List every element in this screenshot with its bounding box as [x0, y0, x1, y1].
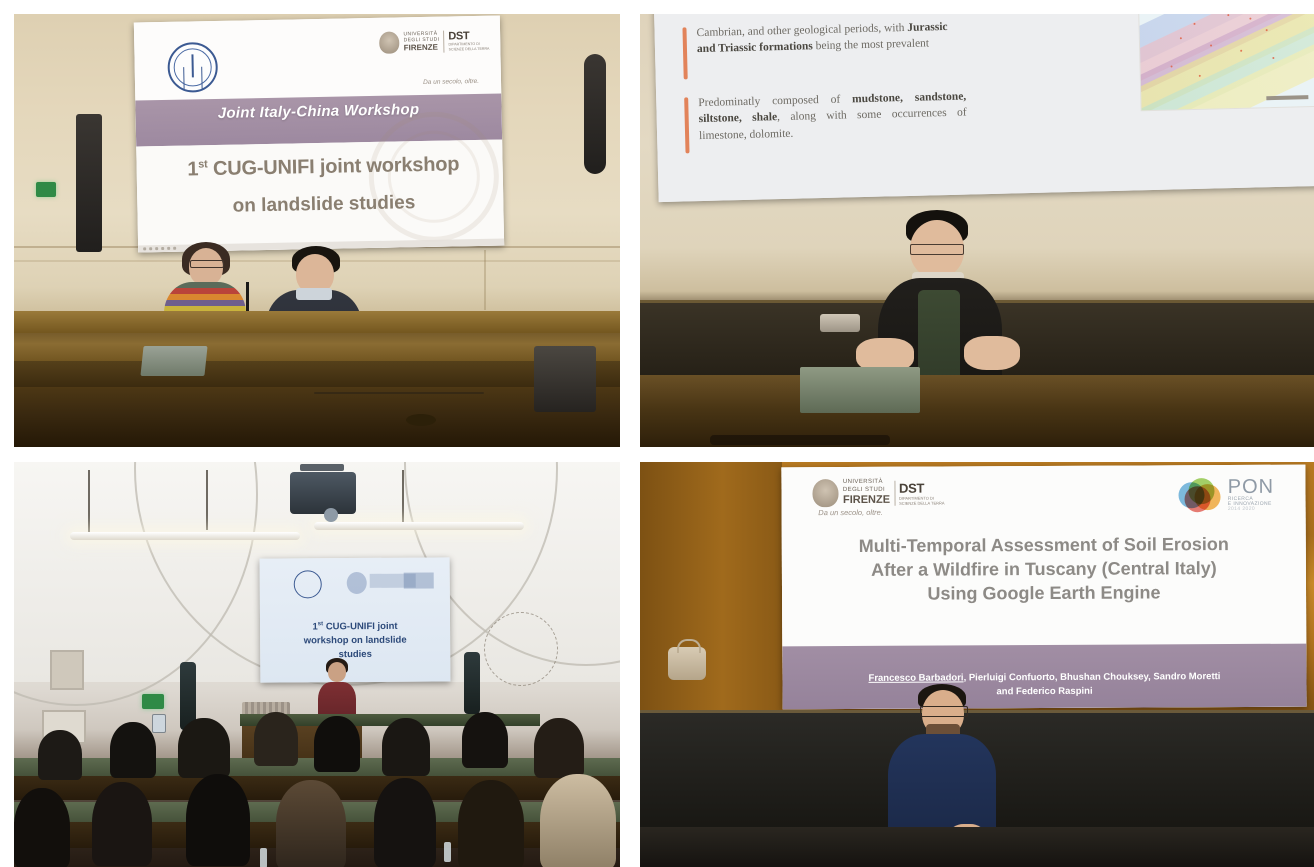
- lamp-rod: [88, 470, 90, 534]
- bullet-1-line-1: Cambrian, and other geological periods, …: [696, 22, 904, 39]
- dst-wordmark: DST: [448, 30, 489, 43]
- audience-member: [314, 716, 360, 772]
- slide-title-line-3: Using Google Earth Engine: [927, 582, 1160, 603]
- cable: [314, 392, 484, 394]
- audience-member: [254, 712, 298, 766]
- water-bottle: [260, 848, 267, 867]
- slide-title-line-2: After a Wildfire in Tuscany (Central Ita…: [871, 558, 1217, 580]
- photo-panel-top-right[interactable]: Cambrian, and other geological periods, …: [640, 14, 1314, 447]
- photo-panel-bottom-right[interactable]: UNIVERSITÀ DEGLI STUDI FIRENZE DST DIPAR…: [640, 462, 1314, 867]
- lecture-bench: [14, 327, 620, 447]
- photo-panel-top-left[interactable]: UNIVERSITÀ DEGLI STUDI FIRENZE DST DIPAR…: [14, 14, 620, 447]
- cug-seal-icon: [167, 42, 218, 93]
- pon-text: PON: [1228, 477, 1274, 497]
- unifi-line-3: FIRENZE: [404, 43, 440, 54]
- bullet-2-rest: , along with some: [777, 109, 882, 124]
- projector-lens-icon: [324, 508, 338, 522]
- bullet-2-text: Predominatly composed of mudstone, sands…: [698, 89, 967, 145]
- bullet-marker: [684, 97, 689, 153]
- speaker-column: [76, 114, 102, 252]
- cable: [710, 435, 890, 445]
- glasses-icon: [910, 244, 964, 255]
- audience-member: [178, 718, 230, 778]
- slide-title-line-1: Multi-Temporal Assessment of Soil Erosio…: [859, 534, 1229, 556]
- glasses-icon: [190, 260, 224, 268]
- hand-right: [964, 336, 1020, 370]
- bullet-2-line-1: Predominatly composed of: [698, 93, 852, 109]
- lamp-rod: [402, 470, 404, 524]
- author-lead: Francesco Barbadori: [868, 672, 963, 683]
- shirt-collar: [296, 288, 332, 300]
- photo-panel-bottom-left[interactable]: 1st CUG-UNIFI joint workshop on landslid…: [14, 462, 620, 867]
- ceiling-lamp: [314, 522, 524, 530]
- projection-screen: UNIVERSITÀ DEGLI STUDI FIRENZE DST DIPAR…: [781, 465, 1306, 710]
- bench-top: [14, 311, 620, 333]
- bullet-1-text: Cambrian, and other geological periods, …: [696, 19, 962, 58]
- laptop: [800, 367, 920, 413]
- audience-member: [382, 718, 430, 776]
- wall-plaque: [50, 650, 84, 690]
- geology-slide: Cambrian, and other geological periods, …: [653, 14, 1314, 202]
- lamp-rod: [206, 470, 208, 530]
- geological-map-image: [1137, 14, 1314, 111]
- lecture-bench: [640, 827, 1314, 867]
- dst-logo: DST DIPARTIMENTO DI SCIENZE DELLA TERRA: [894, 480, 945, 506]
- ceiling-projector: [290, 472, 356, 514]
- ceiling-lamp: [70, 532, 300, 540]
- title-slide: UNIVERSITÀ DEGLI STUDI FIRENZE DST DIPAR…: [781, 465, 1306, 710]
- bag: [668, 647, 706, 680]
- slide-title: Multi-Temporal Assessment of Soil Erosio…: [808, 533, 1280, 607]
- slide-title-main: CUG-UNIFI joint workshop: [207, 153, 459, 180]
- water-bottle: [444, 842, 451, 862]
- unifi-logo: UNIVERSITÀ DEGLI STUDI FIRENZE DST DIPAR…: [379, 30, 489, 55]
- bullet-1-line-3: most prevalent: [861, 38, 929, 52]
- audience-member: [540, 774, 616, 867]
- dst-logo: [404, 572, 434, 588]
- audience-member: [374, 778, 436, 867]
- unifi-tagline: Da un secolo, oltre.: [818, 508, 883, 517]
- unifi-crest-icon: [347, 572, 367, 594]
- pon-sub-3: 2014 2020: [1228, 507, 1274, 512]
- pon-wordmark: PON RICERCA E INNOVAZIONE 2014 2020: [1228, 477, 1275, 512]
- projector-mount: [300, 464, 344, 471]
- projection-screen: Cambrian, and other geological periods, …: [653, 14, 1314, 202]
- bench-front: [14, 361, 620, 387]
- authors-rest: , Pierluigi Confuorto, Bhushan Chouksey,…: [964, 671, 1221, 683]
- unifi-logo: UNIVERSITÀ DEGLI STUDI FIRENZE DST DIPAR…: [813, 479, 945, 508]
- dst-sub-2: SCIENZE DELLA TERRA: [449, 47, 490, 52]
- photo-collage: UNIVERSITÀ DEGLI STUDI FIRENZE DST DIPAR…: [0, 0, 1314, 865]
- audience-member: [38, 730, 82, 780]
- audience-member: [276, 780, 346, 867]
- bullet-1-rest: being the: [813, 39, 859, 52]
- dst-logo: DST DIPARTIMENTO DI SCIENZE DELLA TERRA: [443, 30, 489, 52]
- unifi-line-2: DEGLI STUDI: [843, 486, 885, 492]
- audience-member: [462, 712, 508, 768]
- pon-circles-icon: [1179, 478, 1223, 512]
- slide-title-sup: st: [198, 158, 208, 170]
- speaker-column: [584, 54, 606, 174]
- exit-sign-icon: [142, 694, 164, 709]
- unifi-wordmark: UNIVERSITÀ DEGLI STUDI FIRENZE: [843, 479, 890, 508]
- authors-line-2: and Federico Raspini: [996, 685, 1092, 697]
- wall-speaker: [464, 652, 480, 714]
- audience-member: [534, 718, 584, 778]
- smartphone: [152, 714, 166, 733]
- exit-sign-icon: [36, 182, 56, 197]
- bullet-2-bold-1: mudstone,: [852, 92, 903, 105]
- bench-knob: [406, 414, 436, 426]
- unifi-wordmark: UNIVERSITÀ DEGLI STUDI FIRENZE: [403, 30, 439, 53]
- slide-title-prefix: 1: [187, 158, 198, 180]
- projection-screen: UNIVERSITÀ DEGLI STUDI FIRENZE DST DIPAR…: [134, 16, 504, 253]
- dst-sub-2: SCIENZE DELLA TERRA: [899, 500, 945, 505]
- laptop: [140, 346, 207, 376]
- audience-member: [458, 780, 524, 867]
- audience-member: [92, 782, 152, 866]
- unifi-line-3: FIRENZE: [843, 494, 890, 508]
- audience-member: [110, 722, 156, 778]
- unifi-crest-icon: [379, 31, 399, 53]
- dst-wordmark: DST: [899, 480, 945, 495]
- unifi-line-1: UNIVERSITÀ: [843, 479, 883, 485]
- head: [328, 662, 346, 682]
- slide-title-line-2: workshop on landslide: [304, 635, 407, 647]
- audience-member: [14, 788, 70, 867]
- pon-logo: PON RICERCA E INNOVAZIONE 2014 2020: [1179, 477, 1275, 512]
- decorative-wall-disc: [484, 612, 558, 686]
- slide-title-line-1: CUG-UNIFI joint: [323, 621, 397, 633]
- equipment-box: [534, 346, 596, 412]
- title-slide: UNIVERSITÀ DEGLI STUDI FIRENZE DST DIPAR…: [134, 16, 504, 253]
- unifi-tagline: Da un secolo, oltre.: [423, 78, 479, 86]
- bullet-marker: [682, 27, 687, 79]
- wall-joint: [484, 250, 486, 310]
- unifi-crest-icon: [813, 480, 839, 508]
- audience-member: [186, 774, 250, 866]
- slide-title: 1st CUG-UNIFI joint workshop on landslid…: [275, 619, 435, 662]
- cug-seal-icon: [294, 571, 322, 599]
- glasses-icon: [920, 706, 968, 717]
